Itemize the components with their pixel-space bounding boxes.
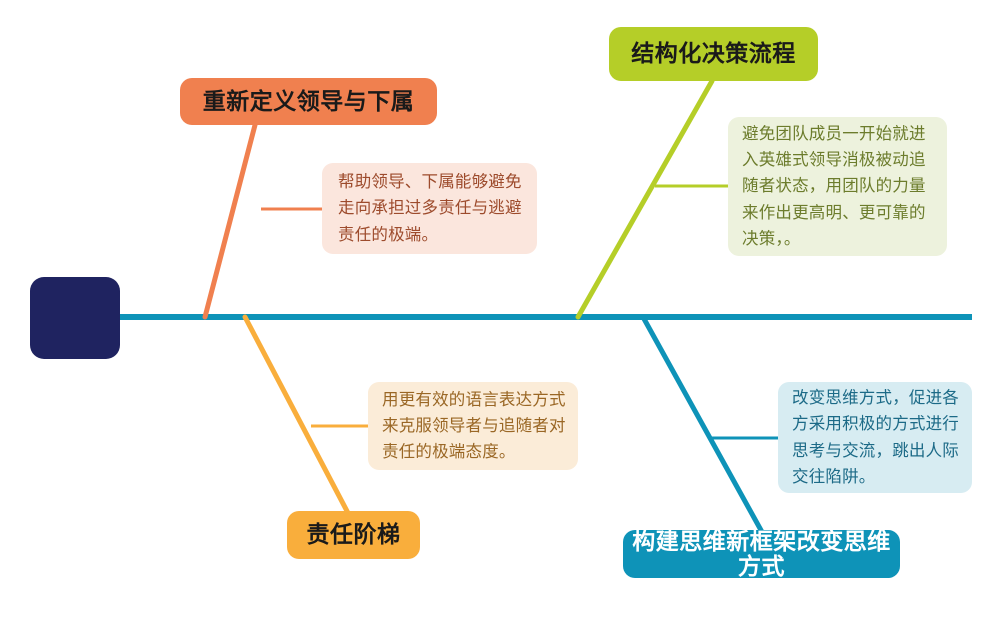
detail-text: 帮助领导、下属能够避免走向承担过多责任与逃避责任的极端。 xyxy=(338,169,523,247)
detail-node-new-thinking-framework[interactable]: 改变思维方式，促进各方采用积极的方式进行思考与交流，跳出人际交往陷阱。 xyxy=(778,382,972,493)
category-label: 结构化决策流程 xyxy=(631,41,796,66)
category-node-responsibility-ladder[interactable]: 责任阶梯 xyxy=(287,511,420,559)
category-node-redefine-leader-subordinate[interactable]: 重新定义领导与下属 xyxy=(180,78,437,125)
detail-node-structured-decision-process[interactable]: 避免团队成员一开始就进入英雄式领导消极被动追随者状态，用团队的力量来作出更高明、… xyxy=(728,117,947,256)
category-node-structured-decision-process[interactable]: 结构化决策流程 xyxy=(609,27,818,81)
fishbone-head-node[interactable] xyxy=(30,277,120,359)
category-label: 责任阶梯 xyxy=(307,522,401,547)
category-label: 构建思维新框架改变思维方式 xyxy=(623,529,900,580)
branch-line-new-thinking-framework xyxy=(643,317,762,532)
category-label: 重新定义领导与下属 xyxy=(203,89,415,114)
fishbone-diagram: 重新定义领导与下属 结构化决策流程 责任阶梯 构建思维新框架改变思维方式 帮助领… xyxy=(0,0,999,619)
branch-line-redefine-leader-subordinate xyxy=(205,125,255,317)
branch-line-structured-decision-process xyxy=(578,81,712,317)
branch-line-responsibility-ladder xyxy=(245,317,348,513)
detail-text: 避免团队成员一开始就进入英雄式领导消极被动追随者状态，用团队的力量来作出更高明、… xyxy=(742,121,937,251)
detail-text: 改变思维方式，促进各方采用积极的方式进行思考与交流，跳出人际交往陷阱。 xyxy=(792,385,962,489)
connector-lines xyxy=(0,0,999,619)
detail-text: 用更有效的语言表达方式来克服领导者与追随者对责任的极端态度。 xyxy=(382,387,566,465)
detail-node-redefine-leader-subordinate[interactable]: 帮助领导、下属能够避免走向承担过多责任与逃避责任的极端。 xyxy=(322,163,537,254)
detail-node-responsibility-ladder[interactable]: 用更有效的语言表达方式来克服领导者与追随者对责任的极端态度。 xyxy=(368,382,578,470)
category-node-new-thinking-framework[interactable]: 构建思维新框架改变思维方式 xyxy=(623,530,900,578)
